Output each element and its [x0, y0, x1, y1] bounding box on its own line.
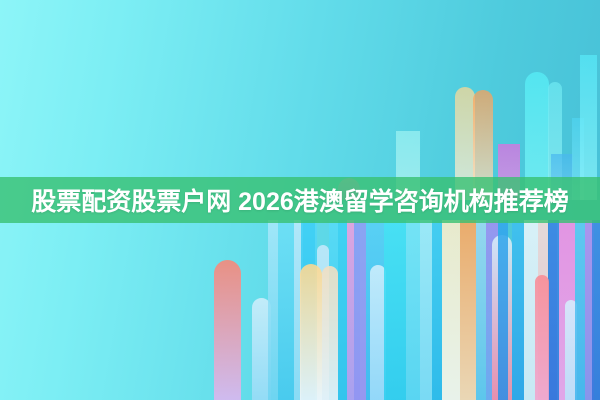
banner-image: 股票配资股票户网 2026港澳留学咨询机构推荐榜	[0, 0, 600, 400]
bar-l18	[406, 220, 420, 400]
bar-l35	[575, 220, 585, 400]
bar-l27	[512, 220, 524, 400]
bar-l37	[592, 220, 600, 400]
bar-l22	[460, 220, 476, 400]
bar-l26	[498, 220, 508, 400]
upper-bar-chart	[0, 0, 600, 200]
bar-l21	[442, 220, 460, 400]
bar-l4	[278, 220, 294, 400]
bar-l23	[476, 220, 486, 400]
bar-l1	[214, 260, 241, 400]
bar-l14	[354, 220, 366, 400]
bar-l31	[535, 275, 549, 400]
bar-l32	[549, 220, 559, 400]
bar-l11	[300, 264, 322, 400]
bar-l17	[384, 220, 406, 400]
bar-l13	[347, 220, 354, 400]
bar-l19	[420, 220, 432, 400]
bar-l12	[322, 266, 338, 400]
bar-l20	[432, 220, 442, 400]
bar-l3	[268, 220, 278, 400]
page-title: 股票配资股票户网 2026港澳留学咨询机构推荐榜	[0, 177, 600, 223]
lower-bar-chart	[0, 220, 600, 400]
